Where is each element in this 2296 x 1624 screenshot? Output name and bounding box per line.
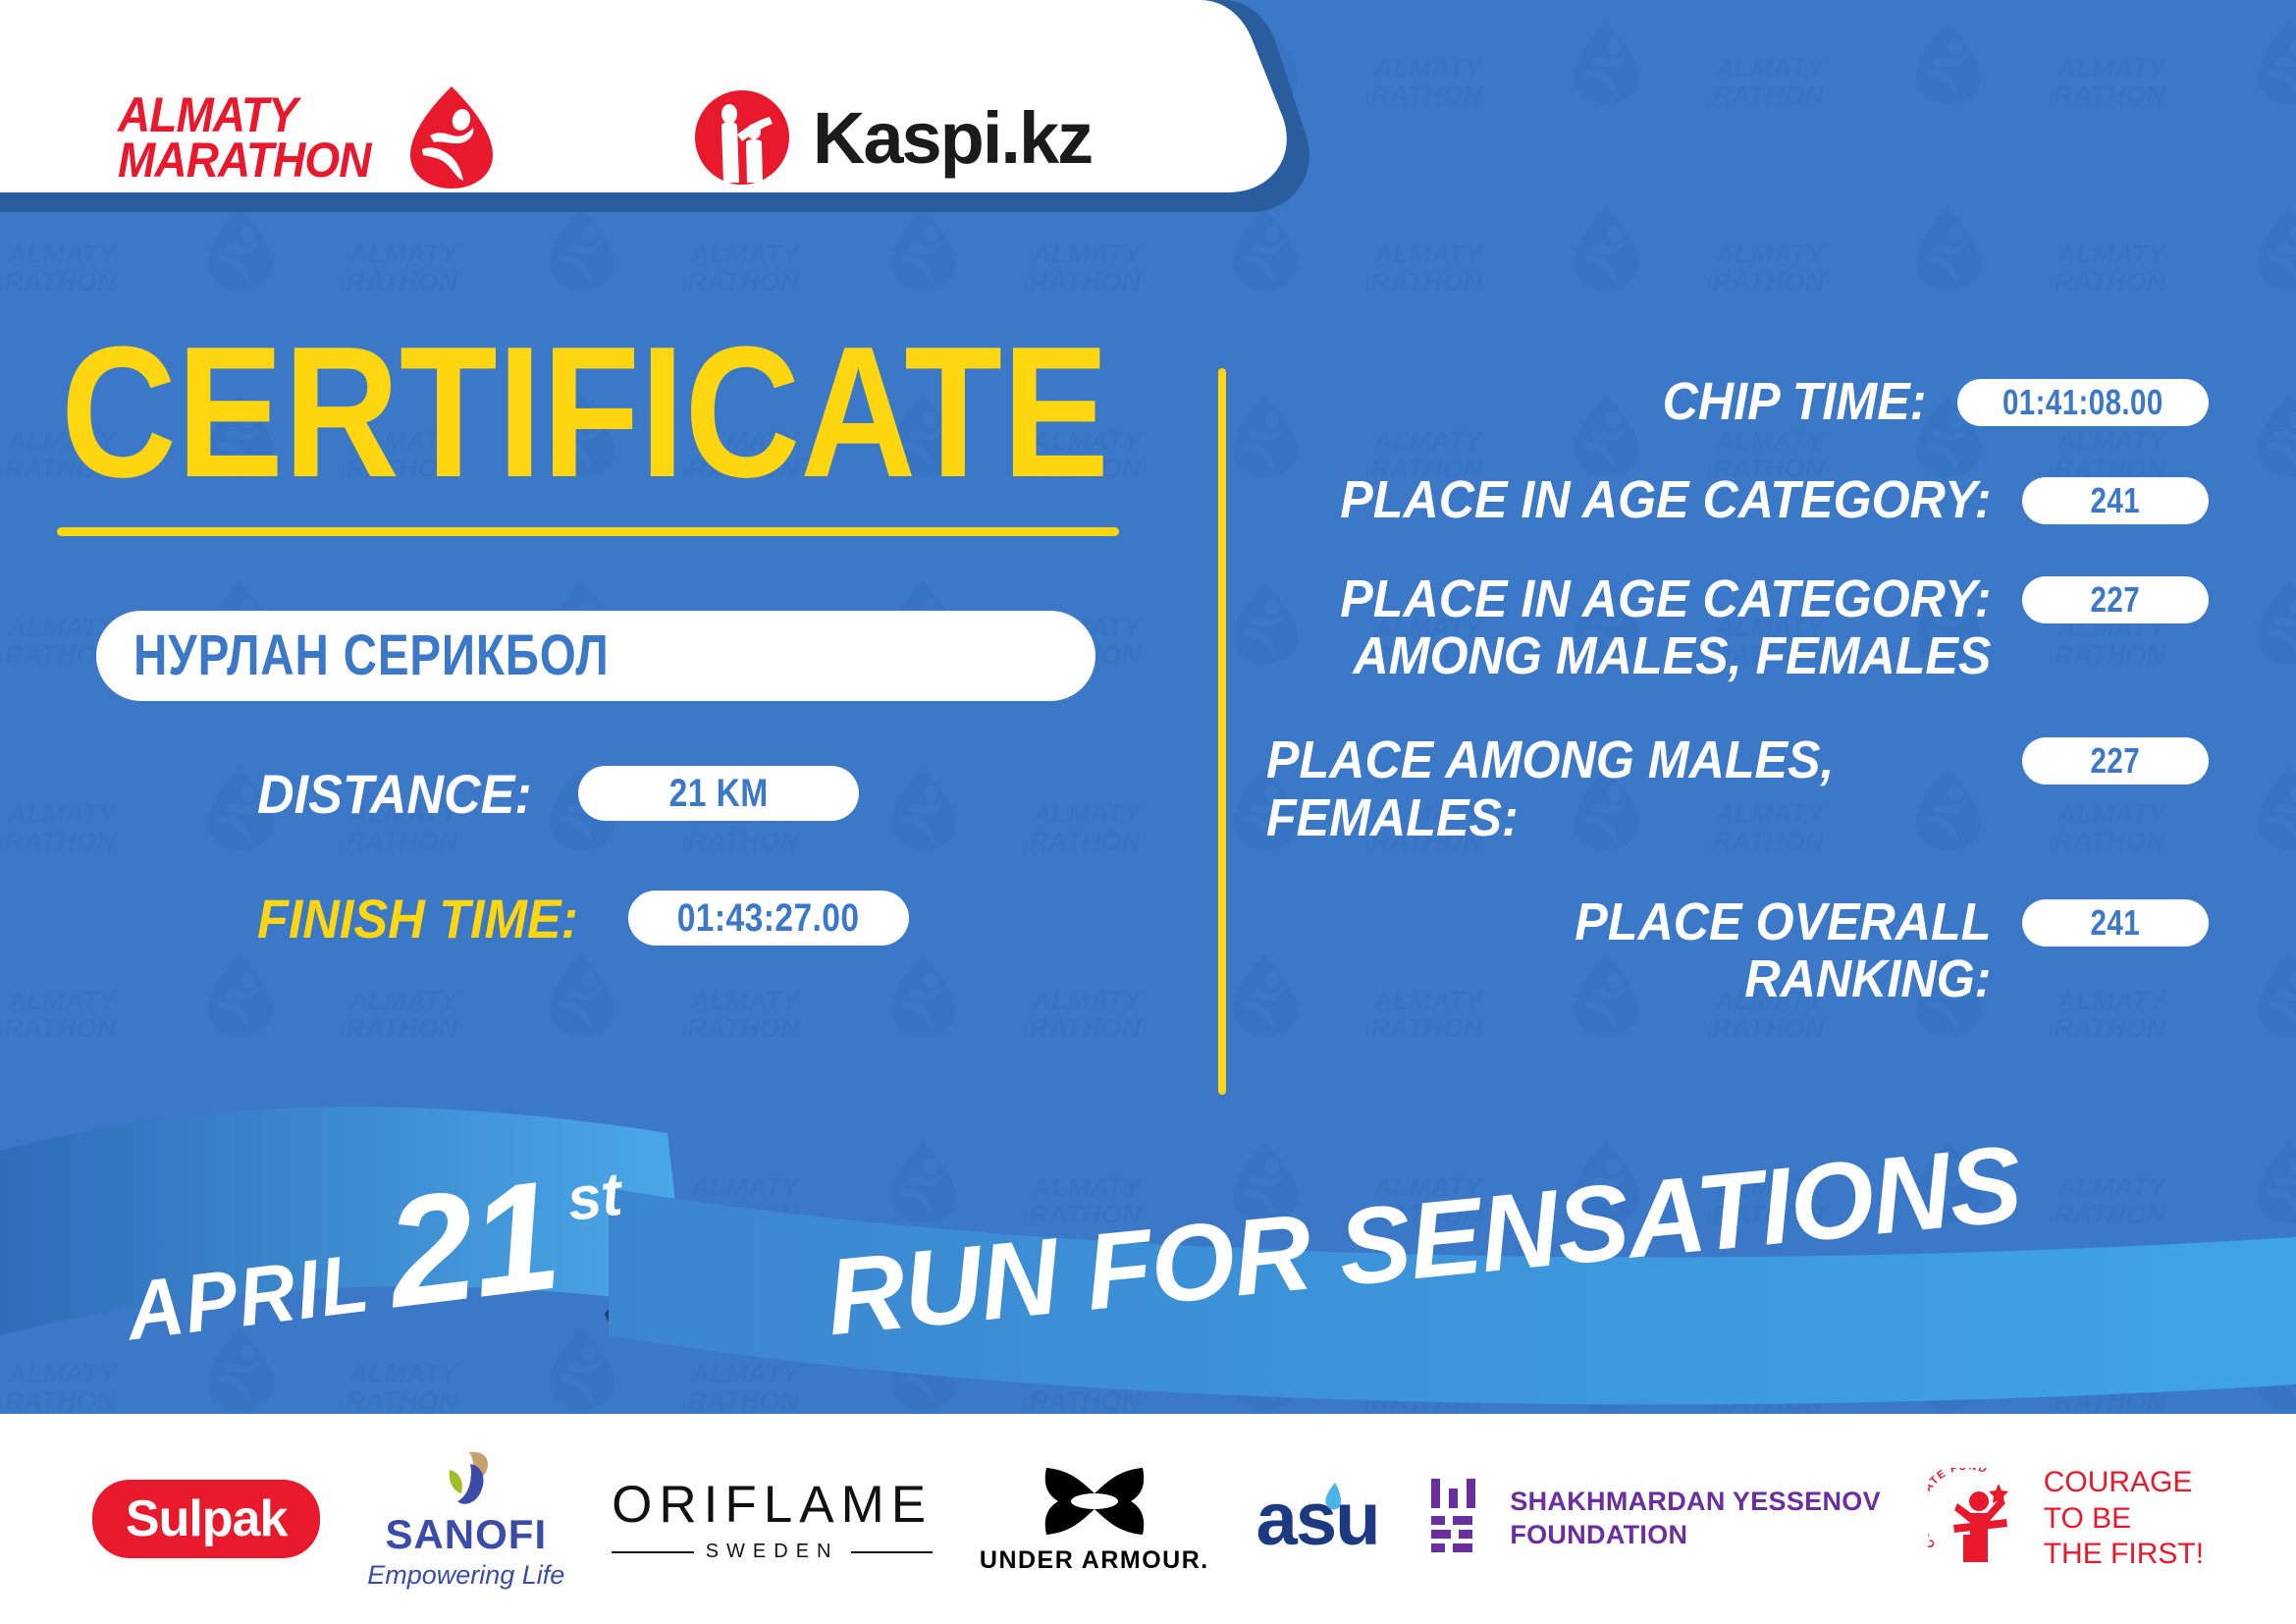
kaspi-wordmark: Kaspi.kz <box>813 96 1092 180</box>
participant-name-field: НУРЛАН СЕРИКБОЛ <box>96 611 1095 701</box>
place-among-gender-row: PLACE AMONG MALES, FEMALES: 227 <box>1266 731 2209 846</box>
under-armour-wordmark: UNDER ARMOUR. <box>980 1546 1209 1575</box>
chip-time-value-field: 01:41:08.00 <box>1957 379 2209 426</box>
finish-time-label: FINISH TIME: <box>257 887 578 950</box>
asu-wordmark: asu <box>1256 1477 1379 1562</box>
place-among-gender-value: 227 <box>2091 740 2140 782</box>
place-among-gender-value-field: 227 <box>2022 737 2209 785</box>
place-age-category-value: 241 <box>2091 480 2140 521</box>
place-overall-row: PLACE OVERALL RANKING: 241 <box>1266 893 2209 1008</box>
oriflame-tagline: SWEDEN <box>706 1541 839 1563</box>
courage-line2: TO BE <box>2044 1501 2204 1538</box>
place-overall-value: 241 <box>2091 902 2140 944</box>
sanofi-tagline: Empowering Life <box>367 1560 564 1591</box>
oriflame-rule-right <box>851 1551 934 1553</box>
certificate-title: CERTIFICATE <box>0 324 1022 502</box>
courage-fund-icon: CORPORATE FUND <box>1928 1468 2028 1570</box>
place-age-category-label: PLACE IN AGE CATEGORY: <box>1317 471 1997 528</box>
place-age-category-gender-row: PLACE IN AGE CATEGORY: AMONG MALES, FEMA… <box>1266 570 2209 685</box>
sanofi-mark-icon <box>430 1448 503 1509</box>
place-age-category-gender-label: PLACE IN AGE CATEGORY: AMONG MALES, FEMA… <box>1317 570 1997 685</box>
kaspi-logo: Kaspi.kz <box>693 88 1092 187</box>
event-day-suffix: st <box>563 1160 625 1235</box>
chip-time-row: CHIP TIME: 01:41:08.00 <box>1266 373 2209 430</box>
sanofi-wordmark: SANOFI <box>385 1511 547 1558</box>
title-underline <box>57 527 1119 536</box>
distance-value-field: 21 KM <box>578 766 859 821</box>
courage-line1: COURAGE <box>2044 1465 2204 1501</box>
courage-line3: THE FIRST! <box>2044 1537 2204 1573</box>
yessenov-bars-icon <box>1425 1477 1486 1561</box>
asu-droplet-icon <box>1319 1481 1345 1514</box>
chip-time-value: 01:41:08.00 <box>2002 382 2163 423</box>
sponsor-sanofi: SANOFI Empowering Life <box>367 1448 564 1591</box>
runner-drop-icon <box>406 84 497 190</box>
column-divider <box>1218 368 1226 1095</box>
courage-wordmark: COURAGE TO BE THE FIRST! <box>2044 1465 2204 1573</box>
distance-label: DISTANCE: <box>257 762 532 826</box>
yessenov-line2: FOUNDATION <box>1510 1519 1881 1552</box>
sponsor-under-armour: UNDER ARMOUR. <box>980 1464 1209 1575</box>
place-age-category-gender-value: 227 <box>2091 579 2140 621</box>
place-age-category-gender-value-field: 227 <box>2022 576 2209 623</box>
under-armour-icon <box>1037 1464 1152 1539</box>
kaspi-people-circle-icon <box>693 88 791 187</box>
certificate-left-column: CERTIFICATE НУРЛАН СЕРИКБОЛ DISTANCE: 21… <box>0 324 1188 950</box>
almaty-logo-line1: ALMATY <box>118 92 371 137</box>
place-age-category-row: PLACE IN AGE CATEGORY: 241 <box>1266 471 2209 528</box>
almaty-logo-line2: MARATHON <box>118 137 371 183</box>
certificate-canvas: ALMATY MARATHON Kaspi.kz C <box>0 0 2296 1624</box>
sponsor-sulpak: Sulpak <box>92 1480 321 1558</box>
sponsor-oriflame: ORIFLAME SWEDEN <box>612 1475 933 1563</box>
almaty-marathon-logo: ALMATY MARATHON <box>118 84 497 190</box>
yessenov-wordmark: SHAKHMARDAN YESSENOV FOUNDATION <box>1510 1486 1881 1552</box>
sulpak-logo: Sulpak <box>92 1480 321 1558</box>
finish-time-row: FINISH TIME: 01:43:27.00 <box>257 887 1188 950</box>
sponsor-asu: asu <box>1256 1477 1379 1562</box>
distance-value: 21 KM <box>668 772 768 816</box>
chip-time-label: CHIP TIME: <box>1312 373 1932 430</box>
participant-name: НУРЛАН СЕРИКБОЛ <box>133 623 610 688</box>
place-age-category-value-field: 241 <box>2022 477 2209 524</box>
finish-time-value: 01:43:27.00 <box>677 896 860 941</box>
place-overall-value-field: 241 <box>2022 899 2209 947</box>
finish-time-value-field: 01:43:27.00 <box>628 891 909 946</box>
place-overall-label: PLACE OVERALL RANKING: <box>1317 893 1997 1008</box>
yessenov-line1: SHAKHMARDAN YESSENOV <box>1510 1486 1881 1519</box>
results-panel: CHIP TIME: 01:41:08.00 PLACE IN AGE CATE… <box>1266 373 2209 1050</box>
event-month: APRIL <box>122 1235 376 1360</box>
event-day: 21 <box>378 1147 567 1344</box>
distance-row: DISTANCE: 21 KM <box>257 762 1188 826</box>
sponsor-courage-fund: CORPORATE FUND COURAGE TO BE THE FIRST! <box>1928 1465 2204 1573</box>
oriflame-sub: SWEDEN <box>612 1541 933 1563</box>
oriflame-rule-left <box>612 1551 694 1553</box>
sponsor-yessenov-foundation: SHAKHMARDAN YESSENOV FOUNDATION <box>1425 1477 1881 1561</box>
oriflame-wordmark: ORIFLAME <box>612 1475 933 1535</box>
sponsor-footer: Sulpak SANOFI Empowering Life ORIFLAME S… <box>0 1414 2296 1624</box>
place-among-gender-label: PLACE AMONG MALES, FEMALES: <box>1266 731 1946 846</box>
